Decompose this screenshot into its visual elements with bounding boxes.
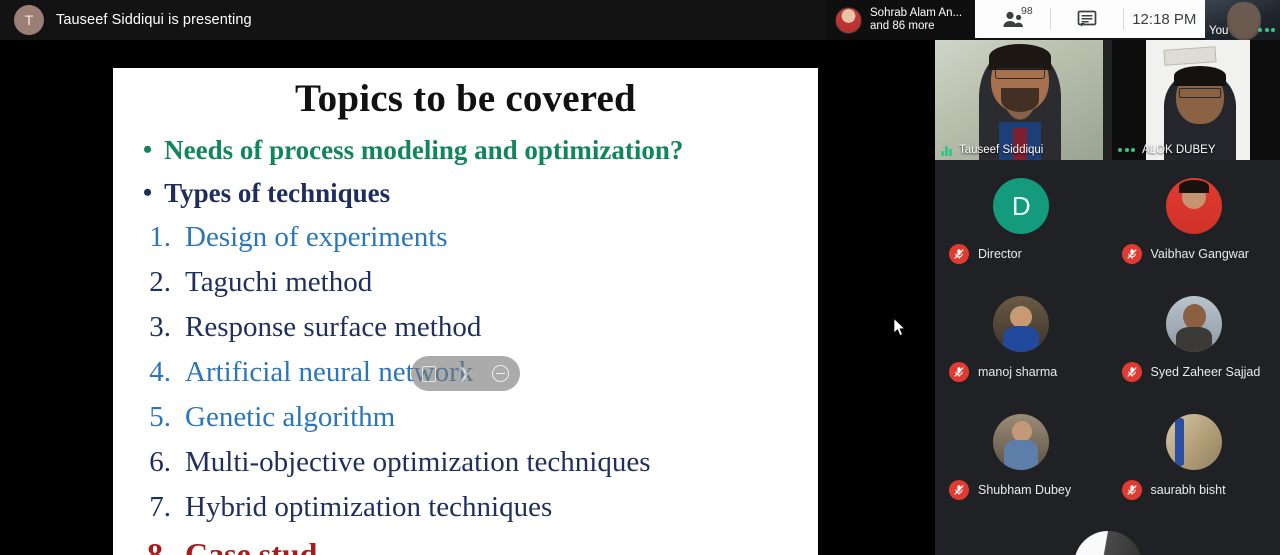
- zoom-control-pill[interactable]: ❯: [411, 356, 520, 391]
- slide-bullet: • Types of techniques: [143, 180, 818, 207]
- speaker-avatar: [835, 7, 862, 34]
- list-item: 8. Case stud: [145, 538, 818, 555]
- mic-off-glyph: [953, 366, 965, 378]
- participant-director[interactable]: D Director: [935, 176, 1108, 294]
- mic-muted-icon: [1122, 480, 1142, 500]
- participant-vaibhav-gangwar[interactable]: Vaibhav Gangwar: [1108, 176, 1280, 294]
- participant-name: Vaibhav Gangwar: [1151, 247, 1249, 261]
- video-tile-label: ALOK DUBEY: [1118, 144, 1216, 156]
- list-item-number: 7.: [145, 493, 171, 522]
- chat-icon: [1077, 10, 1097, 28]
- video-tile-gap: [1103, 40, 1112, 160]
- list-item: 7. Hybrid optimization techniques: [145, 493, 818, 522]
- page-icon: [422, 366, 436, 382]
- mic-muted-icon: [949, 480, 969, 500]
- participant-row: D Director: [935, 176, 1280, 294]
- mic-off-glyph: [1126, 366, 1138, 378]
- list-item: 2. Taguchi method: [145, 268, 818, 297]
- bullet-text: Needs of process modeling and optimizati…: [164, 137, 683, 164]
- participant-row: manoj sharma: [935, 294, 1280, 412]
- participant-name: saurabh bisht: [1151, 483, 1226, 497]
- mic-muted-icon: [949, 362, 969, 382]
- mic-muted-icon: [1122, 244, 1142, 264]
- list-item: 3. Response surface method: [145, 313, 818, 342]
- video-hair: [989, 44, 1051, 70]
- video-glasses: [1179, 88, 1221, 98]
- video-tile-name: Tauseef Siddiqui: [959, 144, 1043, 156]
- list-item-text: Taguchi method: [185, 268, 372, 297]
- avatar: [1074, 531, 1142, 555]
- shared-slide: Topics to be covered • Needs of process …: [113, 68, 818, 555]
- list-item: 5. Genetic algorithm: [145, 403, 818, 432]
- participant-name: Syed Zaheer Sajjad: [1151, 365, 1261, 379]
- video-tile-tauseef-siddiqui[interactable]: Tauseef Siddiqui: [935, 40, 1103, 160]
- mic-muted-icon: [949, 244, 969, 264]
- participants-button[interactable]: 98: [975, 0, 1050, 38]
- cursor-icon: ❯: [458, 365, 470, 382]
- list-item: 1. Design of experiments: [145, 223, 818, 252]
- list-item-number: 4.: [145, 358, 171, 387]
- zoom-out-icon[interactable]: [492, 365, 509, 382]
- video-beard: [1001, 88, 1039, 112]
- list-item-number: 3.: [145, 313, 171, 342]
- active-speaker-chip[interactable]: Sohrab Alam An... and 86 more: [827, 0, 979, 40]
- meeting-controls-panel: 98 12:18 PM: [975, 0, 1205, 38]
- list-item-number: 8.: [145, 538, 171, 555]
- chat-button[interactable]: [1051, 0, 1122, 38]
- participant-label: Syed Zaheer Sajjad: [1122, 362, 1261, 382]
- top-bar: T Tauseef Siddiqui is presenting Sohrab …: [0, 0, 1280, 40]
- mouse-cursor-icon: [893, 318, 906, 337]
- video-tile-name: ALOK DUBEY: [1142, 144, 1216, 156]
- list-item-number: 6.: [145, 448, 171, 477]
- participant-syed-zaheer-sajjad[interactable]: Syed Zaheer Sajjad: [1108, 294, 1280, 412]
- avatar: [1166, 296, 1222, 352]
- list-item-text: Case stud: [185, 538, 317, 555]
- participant-name: Director: [978, 247, 1022, 261]
- list-item-number: 5.: [145, 403, 171, 432]
- bullet-text: Types of techniques: [164, 180, 390, 207]
- video-tile-label: Tauseef Siddiqui: [941, 144, 1043, 156]
- mic-off-glyph: [953, 484, 965, 496]
- participant-grid: D Director: [935, 160, 1280, 530]
- video-hair: [1174, 66, 1226, 86]
- avatar: D: [993, 178, 1049, 234]
- slide-bullet-list: • Needs of process modeling and optimiza…: [113, 137, 818, 207]
- audio-level-icon: [941, 145, 952, 156]
- list-item: 6. Multi-objective optimization techniqu…: [145, 448, 818, 477]
- presenting-status: T Tauseef Siddiqui is presenting: [14, 5, 252, 35]
- slide-title: Topics to be covered: [113, 76, 818, 121]
- mic-off-glyph: [1126, 248, 1138, 260]
- presenting-label: Tauseef Siddiqui is presenting: [56, 12, 252, 28]
- list-item-text: Design of experiments: [185, 223, 448, 252]
- slide-bullet: • Needs of process modeling and optimiza…: [143, 137, 818, 164]
- participant-name: Shubham Dubey: [978, 483, 1071, 497]
- mic-off-glyph: [1126, 484, 1138, 496]
- avatar: [993, 414, 1049, 470]
- participant-label: Vaibhav Gangwar: [1122, 244, 1249, 264]
- speaker-names: Sohrab Alam An... and 86 more: [870, 7, 962, 33]
- avatar: [993, 296, 1049, 352]
- list-item-number: 1.: [145, 223, 171, 252]
- participant-label: Director: [949, 244, 1022, 264]
- participant-name: manoj sharma: [978, 365, 1057, 379]
- self-view-more-options-icon[interactable]: [1258, 28, 1275, 32]
- participants-sidebar: Tauseef Siddiqui ALOK DUBEY: [935, 40, 1280, 555]
- speaker-name: Sohrab Alam An...: [870, 7, 962, 20]
- more-options-icon[interactable]: [1118, 148, 1135, 152]
- self-view-label: You: [1209, 25, 1228, 37]
- time-text: 12:18 PM: [1132, 11, 1196, 28]
- google-meet-window: T Tauseef Siddiqui is presenting Sohrab …: [0, 0, 1280, 555]
- self-view-face: [1227, 2, 1261, 40]
- mic-muted-icon: [1122, 362, 1142, 382]
- participant-label: saurabh bisht: [1122, 480, 1226, 500]
- meeting-time: 12:18 PM: [1124, 0, 1205, 38]
- participant-partial-next-row[interactable]: [935, 507, 1280, 555]
- video-glasses: [995, 68, 1045, 79]
- list-item-text: Genetic algorithm: [185, 403, 395, 432]
- bullet-marker: •: [143, 137, 152, 163]
- participant-label: manoj sharma: [949, 362, 1057, 382]
- list-item-text: Multi-objective optimization techniques: [185, 448, 651, 477]
- avatar: [1166, 414, 1222, 470]
- participant-manoj-sharma[interactable]: manoj sharma: [935, 294, 1108, 412]
- avatar: [1166, 178, 1222, 234]
- mic-off-glyph: [953, 248, 965, 260]
- video-tile-row: Tauseef Siddiqui ALOK DUBEY: [935, 40, 1280, 160]
- participants-count: 98: [1021, 5, 1033, 17]
- list-item-text: Hybrid optimization techniques: [185, 493, 552, 522]
- list-item-number: 2.: [145, 268, 171, 297]
- list-item-text: Response surface method: [185, 313, 481, 342]
- participant-label: Shubham Dubey: [949, 480, 1071, 500]
- video-tile-alok-dubey[interactable]: ALOK DUBEY: [1112, 40, 1280, 160]
- self-view-tile[interactable]: You: [1205, 0, 1280, 40]
- bullet-marker: •: [143, 180, 152, 206]
- presenter-avatar: T: [14, 5, 44, 35]
- presentation-stage: Topics to be covered • Needs of process …: [0, 40, 935, 555]
- speaker-more-count: and 86 more: [870, 20, 962, 33]
